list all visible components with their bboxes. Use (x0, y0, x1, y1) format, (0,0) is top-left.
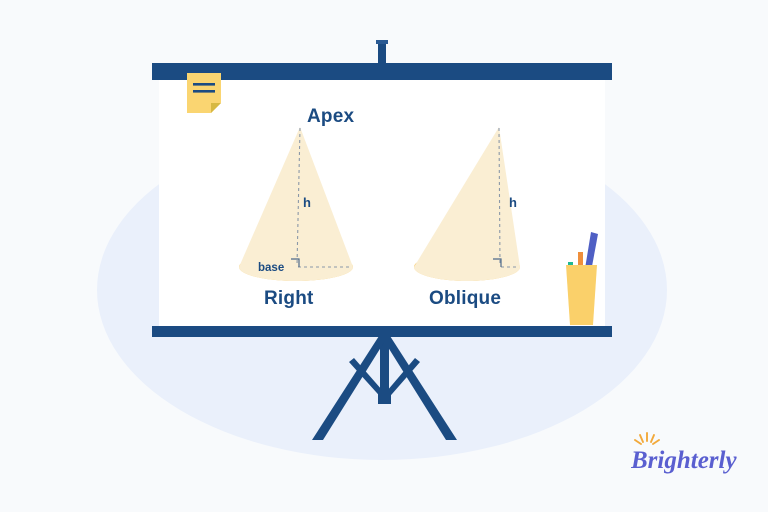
brighterly-logo: Brighterly (631, 432, 739, 476)
note-line-1 (193, 83, 215, 86)
sunburst-icon (635, 433, 659, 444)
board-bottom-bar (152, 326, 612, 337)
cup-icon (566, 265, 597, 325)
oblique-cone-height-label: h (509, 195, 517, 210)
right-cone-title: Right (264, 288, 314, 310)
logo-text: Brighterly (631, 447, 737, 474)
right-cone-base-label: base (258, 262, 284, 274)
tripod (312, 330, 457, 440)
oblique-cone-title: Oblique (429, 288, 501, 310)
tripod-collar (378, 390, 391, 404)
note-icon (187, 73, 221, 113)
screen-hanger (376, 40, 388, 66)
apex-label: Apex (307, 106, 354, 128)
note-line-2 (193, 90, 215, 93)
board-screen (159, 78, 605, 328)
right-cone-height-label: h (303, 195, 311, 210)
illustration-canvas: Apex h base Right h Oblique Brighterly (0, 0, 768, 512)
